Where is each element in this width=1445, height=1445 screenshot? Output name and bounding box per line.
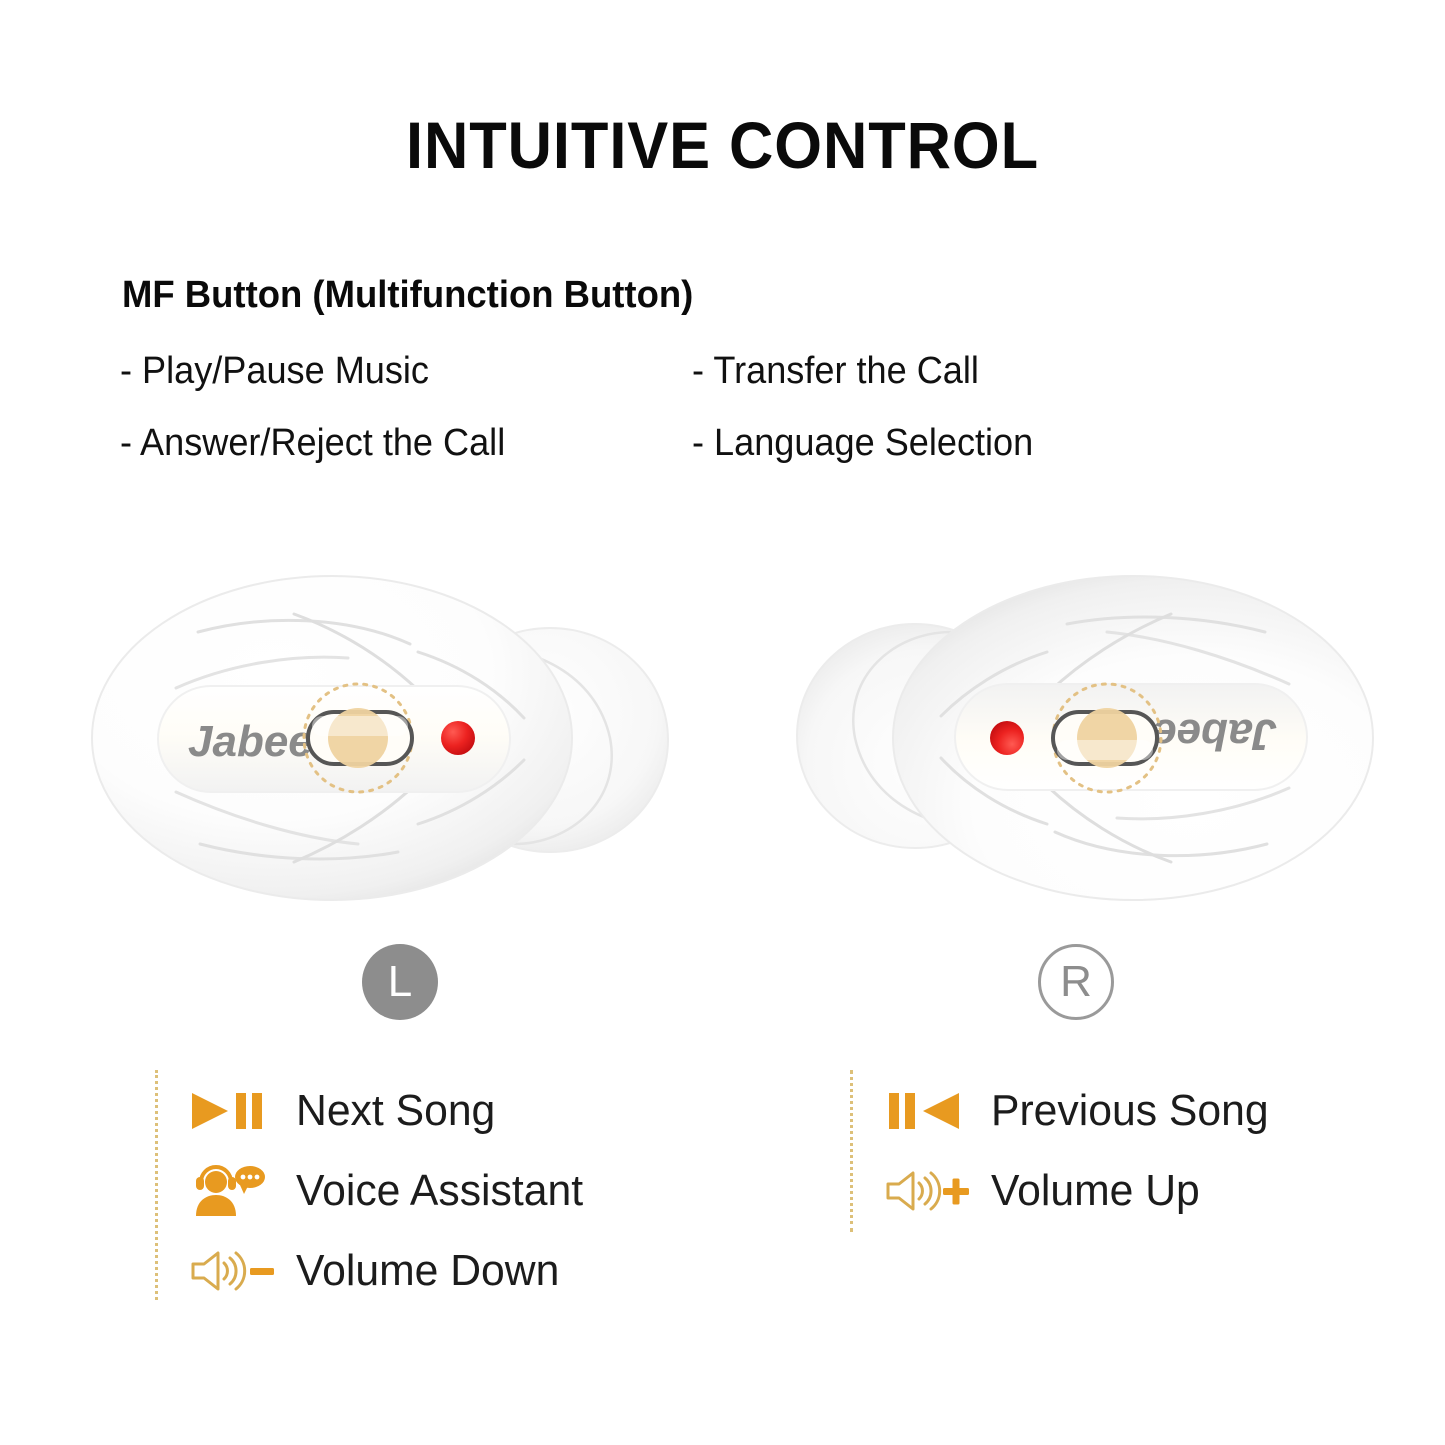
list-item-label: Previous Song <box>991 1085 1269 1137</box>
page-title: INTUITIVE CONTROL <box>51 108 1395 182</box>
list-item: Volume Down <box>190 1232 750 1310</box>
divider-right <box>850 1070 853 1232</box>
divider-left <box>155 1070 158 1300</box>
mf-button-feature-list: - Play/Pause Music - Transfer the Call -… <box>120 348 1180 466</box>
mf-button[interactable] <box>1053 708 1157 768</box>
volume-up-icon <box>885 1164 977 1218</box>
mf-button[interactable] <box>308 708 412 768</box>
list-item: Next Song <box>190 1072 750 1150</box>
infographic-page: INTUITIVE CONTROL MF Button (Multifuncti… <box>0 0 1445 1445</box>
list-item: Previous Song <box>885 1072 1425 1150</box>
play-pause-icon <box>190 1084 282 1138</box>
list-item: Volume Up <box>885 1152 1425 1230</box>
led-indicator <box>441 721 475 755</box>
right-control-list: Previous Song Volume Up <box>885 1072 1425 1232</box>
left-earbud-badge: L <box>362 944 438 1020</box>
volume-down-icon <box>190 1244 282 1298</box>
list-item-label: Next Song <box>296 1085 495 1137</box>
right-earbud-image: Jabees <box>745 548 1385 928</box>
voice-assistant-icon <box>190 1164 282 1218</box>
pause-previous-icon <box>885 1084 977 1138</box>
list-item-label: Volume Down <box>296 1245 559 1297</box>
list-item: - Language Selection <box>692 420 1156 466</box>
list-item-label: Volume Up <box>991 1165 1200 1217</box>
earbuds-illustration-row: Jabees <box>0 548 1445 928</box>
left-earbud-image: Jabees <box>80 548 720 928</box>
left-control-list: Next Song <box>190 1072 750 1312</box>
mf-button-heading: MF Button (Multifunction Button) <box>122 272 693 318</box>
left-earbud-svg: Jabees <box>80 548 720 928</box>
list-item: Voice Assistant <box>190 1152 750 1230</box>
list-item-label: Voice Assistant <box>296 1165 583 1217</box>
list-item: - Play/Pause Music <box>120 348 663 394</box>
list-item: - Answer/Reject the Call <box>120 420 663 466</box>
list-item: - Transfer the Call <box>692 348 1156 394</box>
right-earbud-svg: Jabees <box>745 548 1385 928</box>
right-earbud-badge: R <box>1038 944 1114 1020</box>
led-indicator <box>990 721 1024 755</box>
